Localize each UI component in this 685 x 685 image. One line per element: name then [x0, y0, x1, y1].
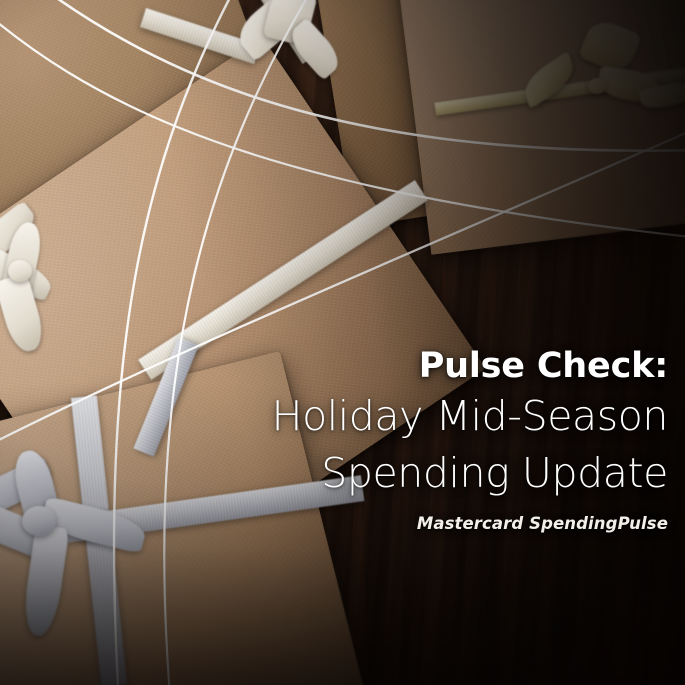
title-line-holiday-mid-season: Holiday Mid-Season [108, 388, 668, 445]
white-bow-left-edge [0, 214, 114, 344]
gold-bow-knot [588, 78, 606, 94]
background-photo [0, 0, 685, 685]
white-bow-knot [8, 260, 32, 282]
title-line-pulse-check: Pulse Check: [108, 344, 668, 388]
subtitle-mastercard-spendingpulse: Mastercard SpendingPulse [108, 514, 668, 533]
title-block: Pulse Check: Holiday Mid-Season Spending… [108, 344, 668, 533]
gift-box-top-right [391, 0, 685, 255]
poster-canvas: Pulse Check: Holiday Mid-Season Spending… [0, 0, 685, 685]
title-line-spending-update: Spending Update [108, 445, 668, 502]
silver-bow-knot [22, 506, 56, 536]
